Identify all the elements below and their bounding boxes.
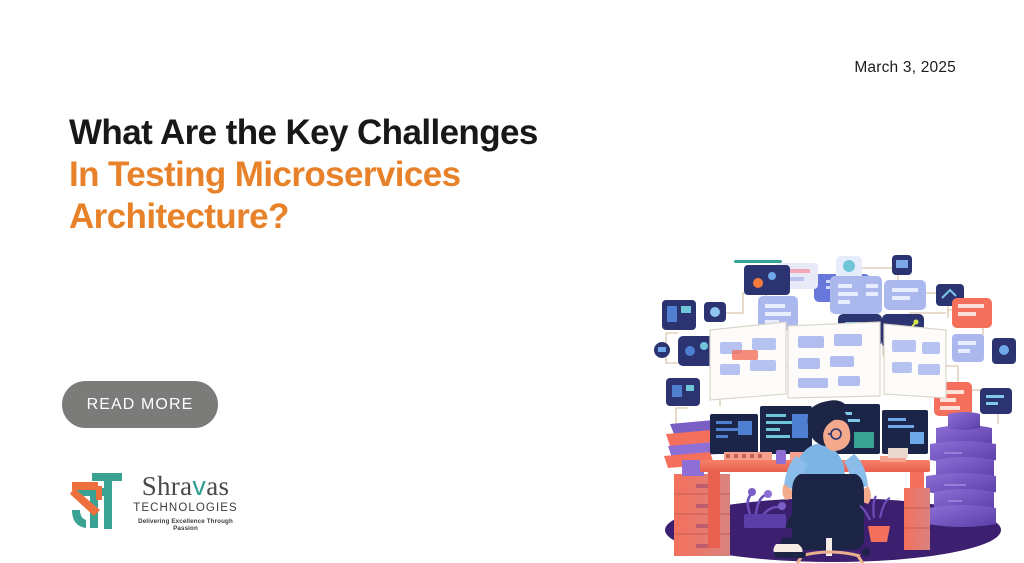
- title-line-3: Architecture?: [69, 196, 669, 238]
- brand-logo[interactable]: Shravas TECHNOLOGIES Delivering Excellen…: [68, 470, 243, 542]
- hero-illustration: [648, 238, 1018, 563]
- brand-name-part1: Shra: [142, 471, 193, 501]
- blog-promo-card: March 3, 2025 What Are the Key Challenge…: [0, 0, 1024, 563]
- title-line-2: In Testing Microservices: [69, 154, 669, 196]
- check-icon: v: [192, 471, 206, 501]
- title-line-1: What Are the Key Challenges: [69, 112, 669, 154]
- brand-name-part2: as: [206, 471, 229, 501]
- publish-date: March 3, 2025: [854, 59, 956, 77]
- brand-tagline: Delivering Excellence Through Passion: [128, 518, 243, 532]
- brand-subtitle: TECHNOLOGIES: [128, 502, 243, 514]
- shravas-monogram-icon: [68, 470, 124, 532]
- read-more-button[interactable]: READ MORE: [62, 381, 218, 428]
- brand-name: Shravas: [142, 472, 230, 501]
- brand-wordmark: Shravas TECHNOLOGIES Delivering Excellen…: [128, 472, 243, 532]
- page-title: What Are the Key Challenges In Testing M…: [69, 112, 669, 238]
